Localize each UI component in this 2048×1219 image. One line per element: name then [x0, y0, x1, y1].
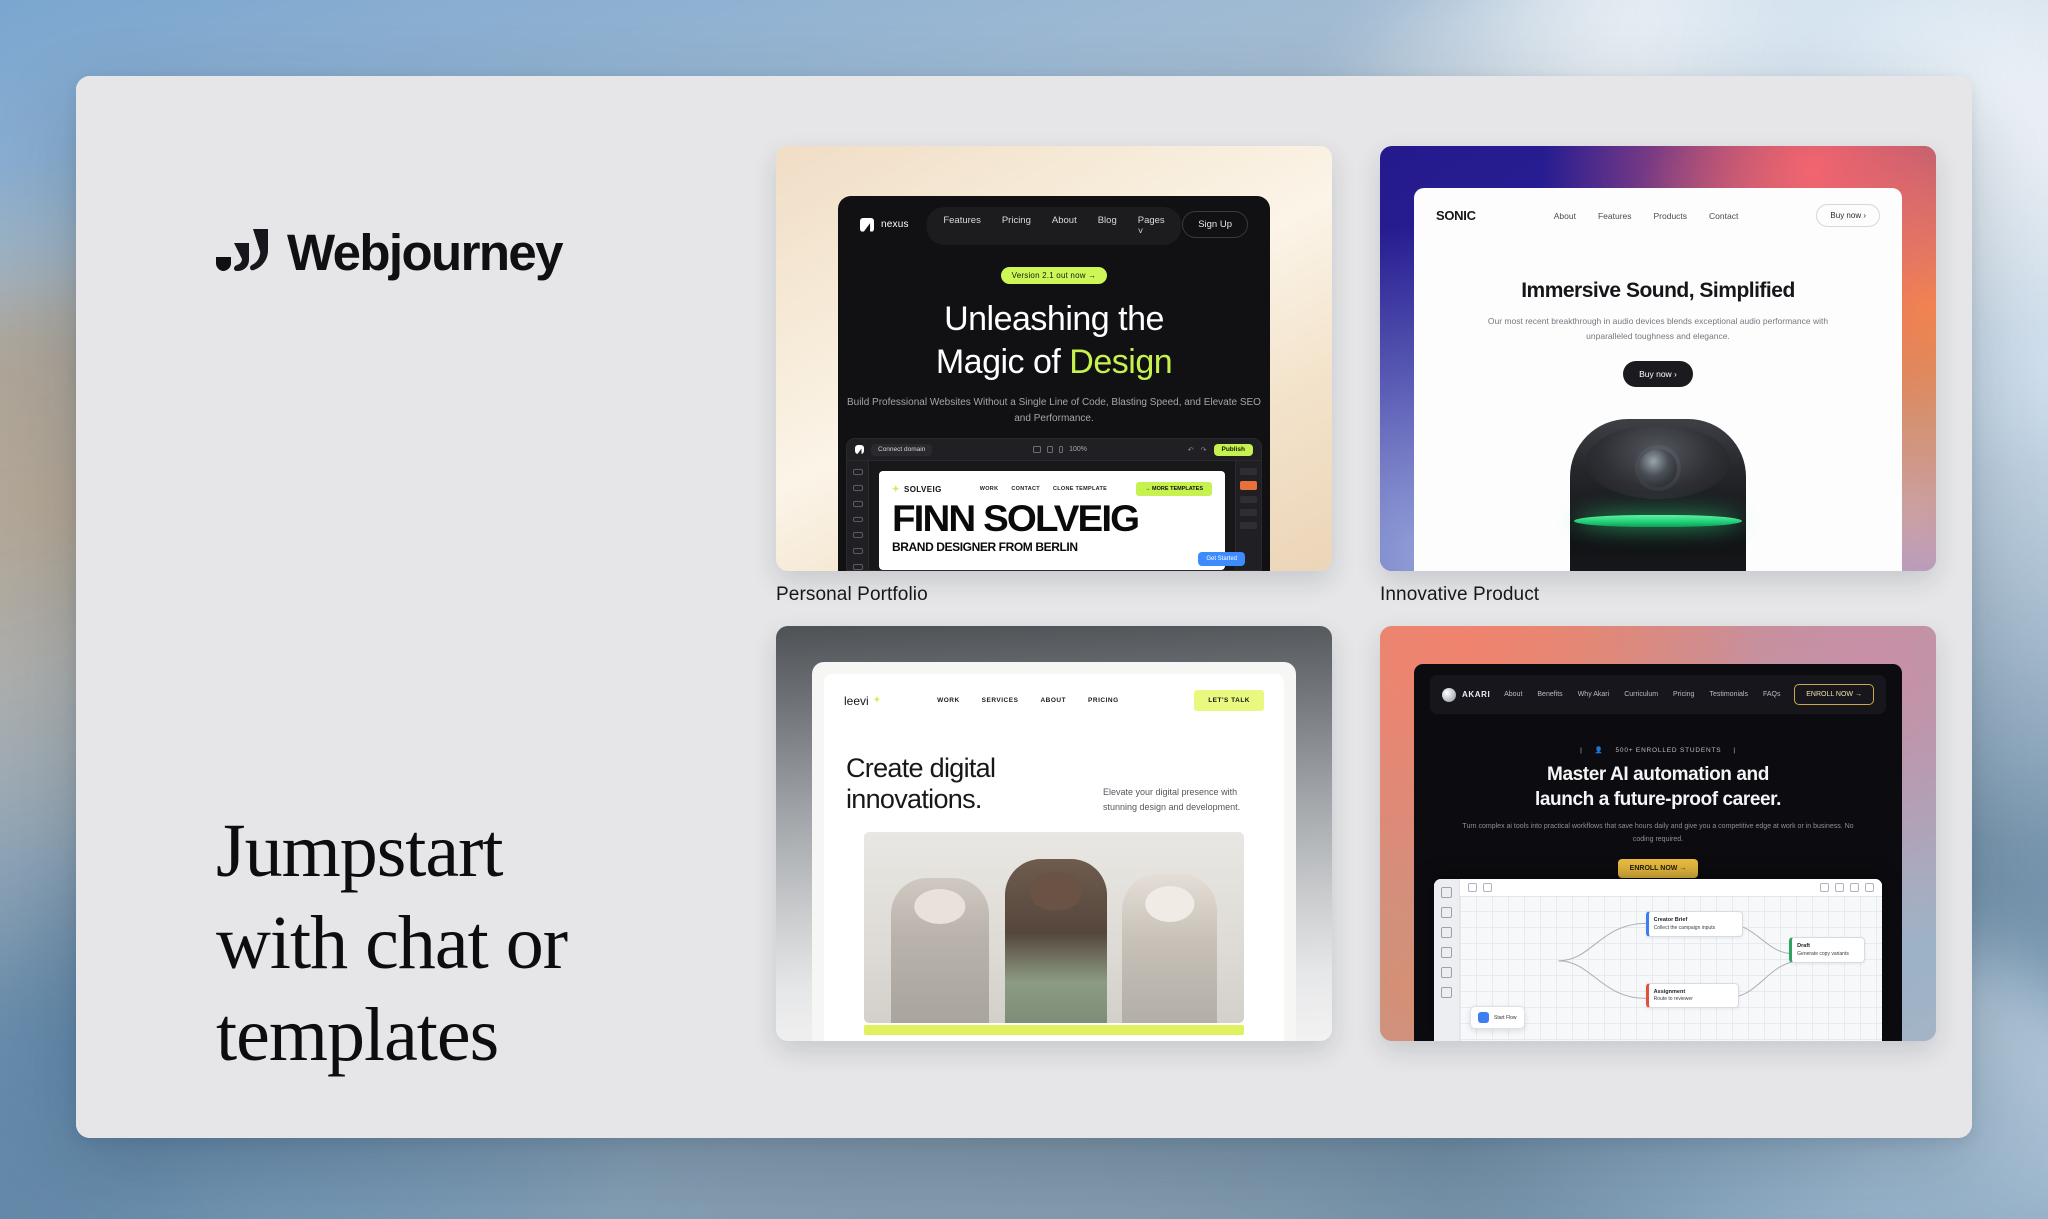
nav-link-about[interactable]: About: [1052, 215, 1077, 237]
template-label-personal-portfolio: Personal Portfolio: [776, 584, 1332, 606]
leevi-headline: Create digital innovations.: [846, 753, 1081, 816]
assets-icon[interactable]: [853, 517, 863, 523]
left-column: Webjourney Jumpstart with chat or templa…: [76, 76, 716, 1138]
leevi-headline-line2: innovations.: [846, 784, 982, 814]
template-card-personal-portfolio[interactable]: nexus Features Pricing About Blog Pages …: [776, 146, 1332, 606]
solveig-big-title: FINN SOLVEIG: [892, 502, 1225, 536]
leevi-navbar: leevi WORK SERVICES ABOUT PRICING LET'S …: [824, 674, 1284, 727]
sonic-hero: Immersive Sound, Simplified Our most rec…: [1414, 279, 1902, 387]
solveig-more-templates-button[interactable]: → MORE TEMPLATES: [1136, 482, 1212, 496]
akari-logo: AKARI: [1442, 688, 1490, 702]
nexus-logo: nexus: [860, 218, 909, 232]
editor-publish-button[interactable]: Publish: [1214, 444, 1253, 456]
undo-icon[interactable]: ↶: [1188, 446, 1194, 454]
settings-icon[interactable]: [1441, 987, 1452, 998]
get-started-fab[interactable]: Get Started: [1198, 552, 1245, 566]
workflow-node-draft[interactable]: Draft Generate copy variants: [1789, 937, 1865, 963]
home-icon[interactable]: [1441, 887, 1452, 898]
editor-left-rail[interactable]: [847, 461, 869, 570]
person-right: [1122, 874, 1217, 1023]
style-row-2[interactable]: [1240, 496, 1257, 503]
akari-subtitle: Turn complex ai tools into practical wor…: [1454, 821, 1862, 846]
node-body: Collect the campaign inputs: [1654, 925, 1715, 931]
editor-domain-chip[interactable]: Connect domain: [871, 444, 932, 456]
nexus-hero: Version 2.1 out now → Unleashing the Mag…: [838, 238, 1270, 467]
workflow-canvas[interactable]: Creator Brief Collect the campaign input…: [1460, 879, 1882, 1041]
cms-icon[interactable]: [853, 548, 863, 554]
desktop-wallpaper: Webjourney Jumpstart with chat or templa…: [0, 0, 2048, 1219]
leevi-headline-line1: Create digital: [846, 753, 995, 783]
brand-lockup: Webjourney: [214, 226, 562, 278]
sonic-logo-text: SONIC: [1436, 208, 1476, 223]
editor-viewport-controls[interactable]: 100%: [1033, 446, 1087, 453]
leevi-subtitle: Elevate your digital presence with stunn…: [1103, 753, 1262, 816]
webjourney-logo-mark: [214, 226, 271, 278]
badge-bar-right: |: [1733, 747, 1736, 754]
nexus-version-badge[interactable]: Version 2.1 out now →: [1001, 267, 1108, 284]
nav-link-why-akari[interactable]: Why Akari: [1578, 691, 1610, 698]
solveig-brand: SOLVEIG: [892, 484, 942, 495]
nav-link-faqs[interactable]: FAQs: [1763, 691, 1781, 698]
nexus-navbar: nexus Features Pricing About Blog Pages …: [838, 196, 1270, 238]
leevi-nav-links: WORK SERVICES ABOUT PRICING: [937, 697, 1119, 704]
nav-link-features[interactable]: Features: [943, 215, 981, 237]
nav-link-curriculum[interactable]: Curriculum: [1624, 691, 1658, 698]
badge-bar-left: |: [1580, 747, 1583, 754]
nav-link-services[interactable]: SERVICES: [982, 697, 1019, 704]
nexus-site-preview: nexus Features Pricing About Blog Pages …: [838, 196, 1270, 571]
template-label-innovative-product: Innovative Product: [1380, 584, 1936, 606]
akari-navbar: AKARI About Benefits Why Akari Curriculu…: [1430, 675, 1886, 714]
leevi-accent-bar: [864, 1025, 1244, 1035]
nav-link-testimonials[interactable]: Testimonials: [1709, 691, 1748, 698]
node-title: Creator Brief: [1654, 916, 1737, 924]
sonic-subtitle: Our most recent breakthrough in audio de…: [1474, 314, 1842, 344]
sonic-headline: Immersive Sound, Simplified: [1474, 279, 1842, 303]
workflow-node-assignment[interactable]: Assignment Route to reviewer: [1646, 983, 1739, 1009]
solveig-navbar: SOLVEIG WORK CONTACT CLONE TEMPLATE → MO…: [892, 482, 1212, 496]
integrations-icon[interactable]: [1441, 947, 1452, 958]
nav-link-pricing[interactable]: Pricing: [1002, 215, 1031, 237]
editor-logo-icon: [855, 445, 864, 454]
person-center-head: [1029, 872, 1082, 911]
template-preview-innovative-product[interactable]: SONIC About Features Products Contact Bu…: [1380, 146, 1936, 571]
leevi-site-preview: leevi WORK SERVICES ABOUT PRICING LET'S …: [824, 674, 1284, 1041]
nav-link-features[interactable]: Features: [1598, 211, 1632, 221]
nav-link-pricing[interactable]: Pricing: [1673, 691, 1694, 698]
template-preview-akari[interactable]: AKARI About Benefits Why Akari Curriculu…: [1380, 626, 1936, 1041]
nexus-headline-accent: Design: [1069, 343, 1172, 381]
sonic-nav-links: About Features Products Contact: [1554, 211, 1739, 221]
nexus-subtitle: Build Professional Websites Without a Si…: [838, 395, 1270, 428]
person-icon: 👤: [1595, 747, 1604, 754]
nexus-headline-line1: Unleashing the: [944, 300, 1164, 338]
akari-students-badge: |👤500+ ENROLLED STUDENTS|: [1454, 746, 1862, 754]
nav-link-about[interactable]: About: [1504, 691, 1522, 698]
style-row-accent[interactable]: [1240, 481, 1257, 490]
workflow-start-node[interactable]: Start Flow: [1470, 1006, 1525, 1029]
akari-hero: |👤500+ ENROLLED STUDENTS| Master AI auto…: [1414, 746, 1902, 878]
akari-badge-text: 500+ ENROLLED STUDENTS: [1615, 747, 1721, 754]
nexus-signup-button[interactable]: Sign Up: [1182, 211, 1248, 238]
editor-toolbar: Connect domain 100% ↶ ↷ Publish: [847, 439, 1261, 461]
person-center: [1005, 859, 1108, 1023]
redo-icon[interactable]: ↷: [1201, 446, 1207, 454]
brand-name: Webjourney: [287, 227, 562, 278]
leevi-site-frame: leevi WORK SERVICES ABOUT PRICING LET'S …: [812, 662, 1296, 1041]
style-row-1[interactable]: [1240, 468, 1257, 475]
akari-workflow-app: Creator Brief Collect the campaign input…: [1434, 879, 1882, 1041]
akari-nav-links: About Benefits Why Akari Curriculum Pric…: [1504, 691, 1780, 698]
template-preview-leevi[interactable]: leevi WORK SERVICES ABOUT PRICING LET'S …: [776, 626, 1332, 1041]
nexus-nav-links: Features Pricing About Blog Pages ˅: [926, 207, 1181, 245]
person-left: [891, 878, 990, 1023]
layers-icon[interactable]: [853, 485, 863, 491]
template-card-leevi[interactable]: leevi WORK SERVICES ABOUT PRICING LET'S …: [776, 626, 1332, 1054]
style-row-3[interactable]: [1240, 509, 1257, 516]
nav-link-products[interactable]: Products: [1654, 211, 1688, 221]
nexus-logo-text: nexus: [881, 219, 909, 230]
speaker-product-image: [1570, 419, 1746, 571]
nav-link-work[interactable]: WORK: [937, 697, 960, 704]
akari-logo-icon: [1442, 688, 1456, 702]
leevi-lets-talk-button[interactable]: LET'S TALK: [1194, 690, 1264, 711]
akari-headline-line1: Master AI automation and: [1547, 764, 1769, 785]
solveig-subtitle: BRAND DESIGNER FROM BERLIN: [892, 540, 1212, 554]
editor-body: SOLVEIG WORK CONTACT CLONE TEMPLATE → MO…: [847, 461, 1261, 570]
editor-page-preview: SOLVEIG WORK CONTACT CLONE TEMPLATE → MO…: [879, 471, 1225, 570]
editor-canvas: SOLVEIG WORK CONTACT CLONE TEMPLATE → MO…: [869, 461, 1235, 570]
start-flow-icon: [1478, 1012, 1489, 1023]
nav-link-pricing[interactable]: PRICING: [1088, 697, 1119, 704]
akari-headline-line2: launch a future-proof career.: [1535, 789, 1781, 810]
settings-icon[interactable]: [853, 564, 863, 570]
akari-enroll-nav-button[interactable]: ENROLL NOW →: [1794, 684, 1874, 705]
nexus-headline: Unleashing the Magic of Design: [838, 298, 1270, 384]
akari-site-preview: AKARI About Benefits Why Akari Curriculu…: [1414, 664, 1902, 1041]
style-row-4[interactable]: [1240, 522, 1257, 529]
sonic-site-preview: SONIC About Features Products Contact Bu…: [1414, 188, 1902, 571]
template-card-akari[interactable]: AKARI About Benefits Why Akari Curriculu…: [1380, 626, 1936, 1054]
nexus-logo-icon: [860, 218, 874, 232]
text-tool-icon[interactable]: [853, 501, 863, 507]
sonic-buy-now-button[interactable]: Buy now ›: [1623, 361, 1693, 387]
flows-icon[interactable]: [1441, 907, 1452, 918]
nexus-headline-line2a: Magic of: [936, 343, 1069, 381]
nav-link-about[interactable]: ABOUT: [1040, 697, 1066, 704]
editor-zoom-level[interactable]: 100%: [1069, 446, 1087, 453]
template-grid: nexus Features Pricing About Blog Pages …: [776, 146, 1936, 1054]
add-element-icon[interactable]: [853, 469, 863, 475]
nav-link-about[interactable]: About: [1554, 211, 1576, 221]
leevi-team-photo: [864, 832, 1244, 1023]
workflow-left-rail[interactable]: [1434, 879, 1460, 1041]
workflow-node-creator-brief[interactable]: Creator Brief Collect the campaign input…: [1646, 911, 1743, 937]
node-title: Assignment: [1654, 988, 1733, 996]
akari-logo-text: AKARI: [1462, 690, 1490, 699]
solveig-link-work[interactable]: WORK: [980, 486, 999, 492]
leevi-logo-text: leevi: [844, 694, 881, 708]
akari-enroll-button[interactable]: ENROLL NOW →: [1618, 859, 1699, 878]
templates-icon[interactable]: [1441, 927, 1452, 938]
person-left-head: [914, 889, 965, 924]
node-body: Route to reviewer: [1654, 996, 1693, 1002]
analytics-icon[interactable]: [1441, 967, 1452, 978]
speaker-light-ring: [1574, 515, 1742, 527]
page-headline: Jumpstart with chat or templates: [216, 806, 646, 1082]
node-title: Draft: [1797, 942, 1859, 950]
person-right-head: [1145, 886, 1194, 922]
sonic-buy-now-nav-button[interactable]: Buy now ›: [1816, 204, 1880, 227]
leevi-hero: Create digital innovations. Elevate your…: [824, 727, 1284, 816]
nav-link-blog[interactable]: Blog: [1098, 215, 1117, 237]
solveig-nav-links: WORK CONTACT CLONE TEMPLATE: [980, 486, 1107, 492]
node-body: Generate copy variants: [1797, 951, 1849, 957]
nav-link-benefits[interactable]: Benefits: [1537, 691, 1562, 698]
sonic-navbar: SONIC About Features Products Contact Bu…: [1414, 188, 1902, 243]
solveig-link-contact[interactable]: CONTACT: [1011, 486, 1040, 492]
components-icon[interactable]: [853, 532, 863, 538]
template-card-innovative-product[interactable]: SONIC About Features Products Contact Bu…: [1380, 146, 1936, 606]
nexus-editor-panel: Connect domain 100% ↶ ↷ Publish: [846, 438, 1262, 571]
desktop-view-icon[interactable]: [1033, 446, 1041, 453]
mobile-view-icon[interactable]: [1059, 446, 1063, 453]
tablet-view-icon[interactable]: [1047, 446, 1053, 453]
nav-link-pages[interactable]: Pages ˅: [1138, 215, 1165, 237]
speaker-lens: [1639, 449, 1677, 487]
start-flow-label: Start Flow: [1494, 1015, 1517, 1021]
onboarding-card: Webjourney Jumpstart with chat or templa…: [76, 76, 1972, 1138]
solveig-link-clone[interactable]: CLONE TEMPLATE: [1053, 486, 1107, 492]
nav-link-contact[interactable]: Contact: [1709, 211, 1738, 221]
akari-headline: Master AI automation and launch a future…: [1454, 763, 1862, 812]
template-preview-personal-portfolio[interactable]: nexus Features Pricing About Blog Pages …: [776, 146, 1332, 571]
